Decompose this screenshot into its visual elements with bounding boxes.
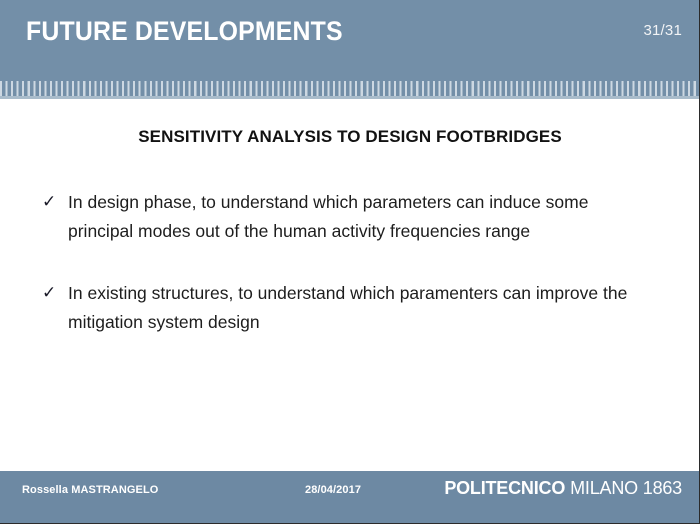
content-subtitle: SENSITIVITY ANALYSIS TO DESIGN FOOTBRIDG…	[0, 127, 700, 147]
checkmark-icon: ✓	[42, 188, 68, 216]
list-item: ✓ In design phase, to understand which p…	[42, 188, 657, 245]
checkmark-icon: ✓	[42, 279, 68, 307]
slide-page-number: 31/31	[643, 22, 682, 39]
slide-content-area: SENSITIVITY ANALYSIS TO DESIGN FOOTBRIDG…	[0, 99, 700, 471]
page-title: FUTURE DEVELOPMENTS	[26, 16, 343, 47]
slide-header-band: FUTURE DEVELOPMENTS 31/31	[0, 0, 700, 76]
presentation-slide: FUTURE DEVELOPMENTS 31/31 SENSITIVITY AN…	[0, 0, 700, 524]
footer-author-name: Rossella MASTRANGELO	[22, 484, 158, 496]
header-tick-ruler-band	[0, 76, 700, 99]
politecnico-milano-logo: POLITECNICO MILANO 1863	[444, 478, 682, 499]
list-item-text: In existing structures, to understand wh…	[68, 279, 657, 336]
tick-marks-pattern	[0, 81, 700, 97]
logo-text-milano-1863: MILANO 1863	[570, 478, 682, 498]
slide-footer-band: Rossella MASTRANGELO 28/04/2017 POLITECN…	[0, 471, 700, 524]
logo-text-politecnico: POLITECNICO	[444, 478, 565, 498]
bullet-list: ✓ In design phase, to understand which p…	[42, 188, 657, 370]
list-item-text: In design phase, to understand which par…	[68, 188, 657, 245]
list-item: ✓ In existing structures, to understand …	[42, 279, 657, 336]
footer-date: 28/04/2017	[305, 484, 361, 496]
